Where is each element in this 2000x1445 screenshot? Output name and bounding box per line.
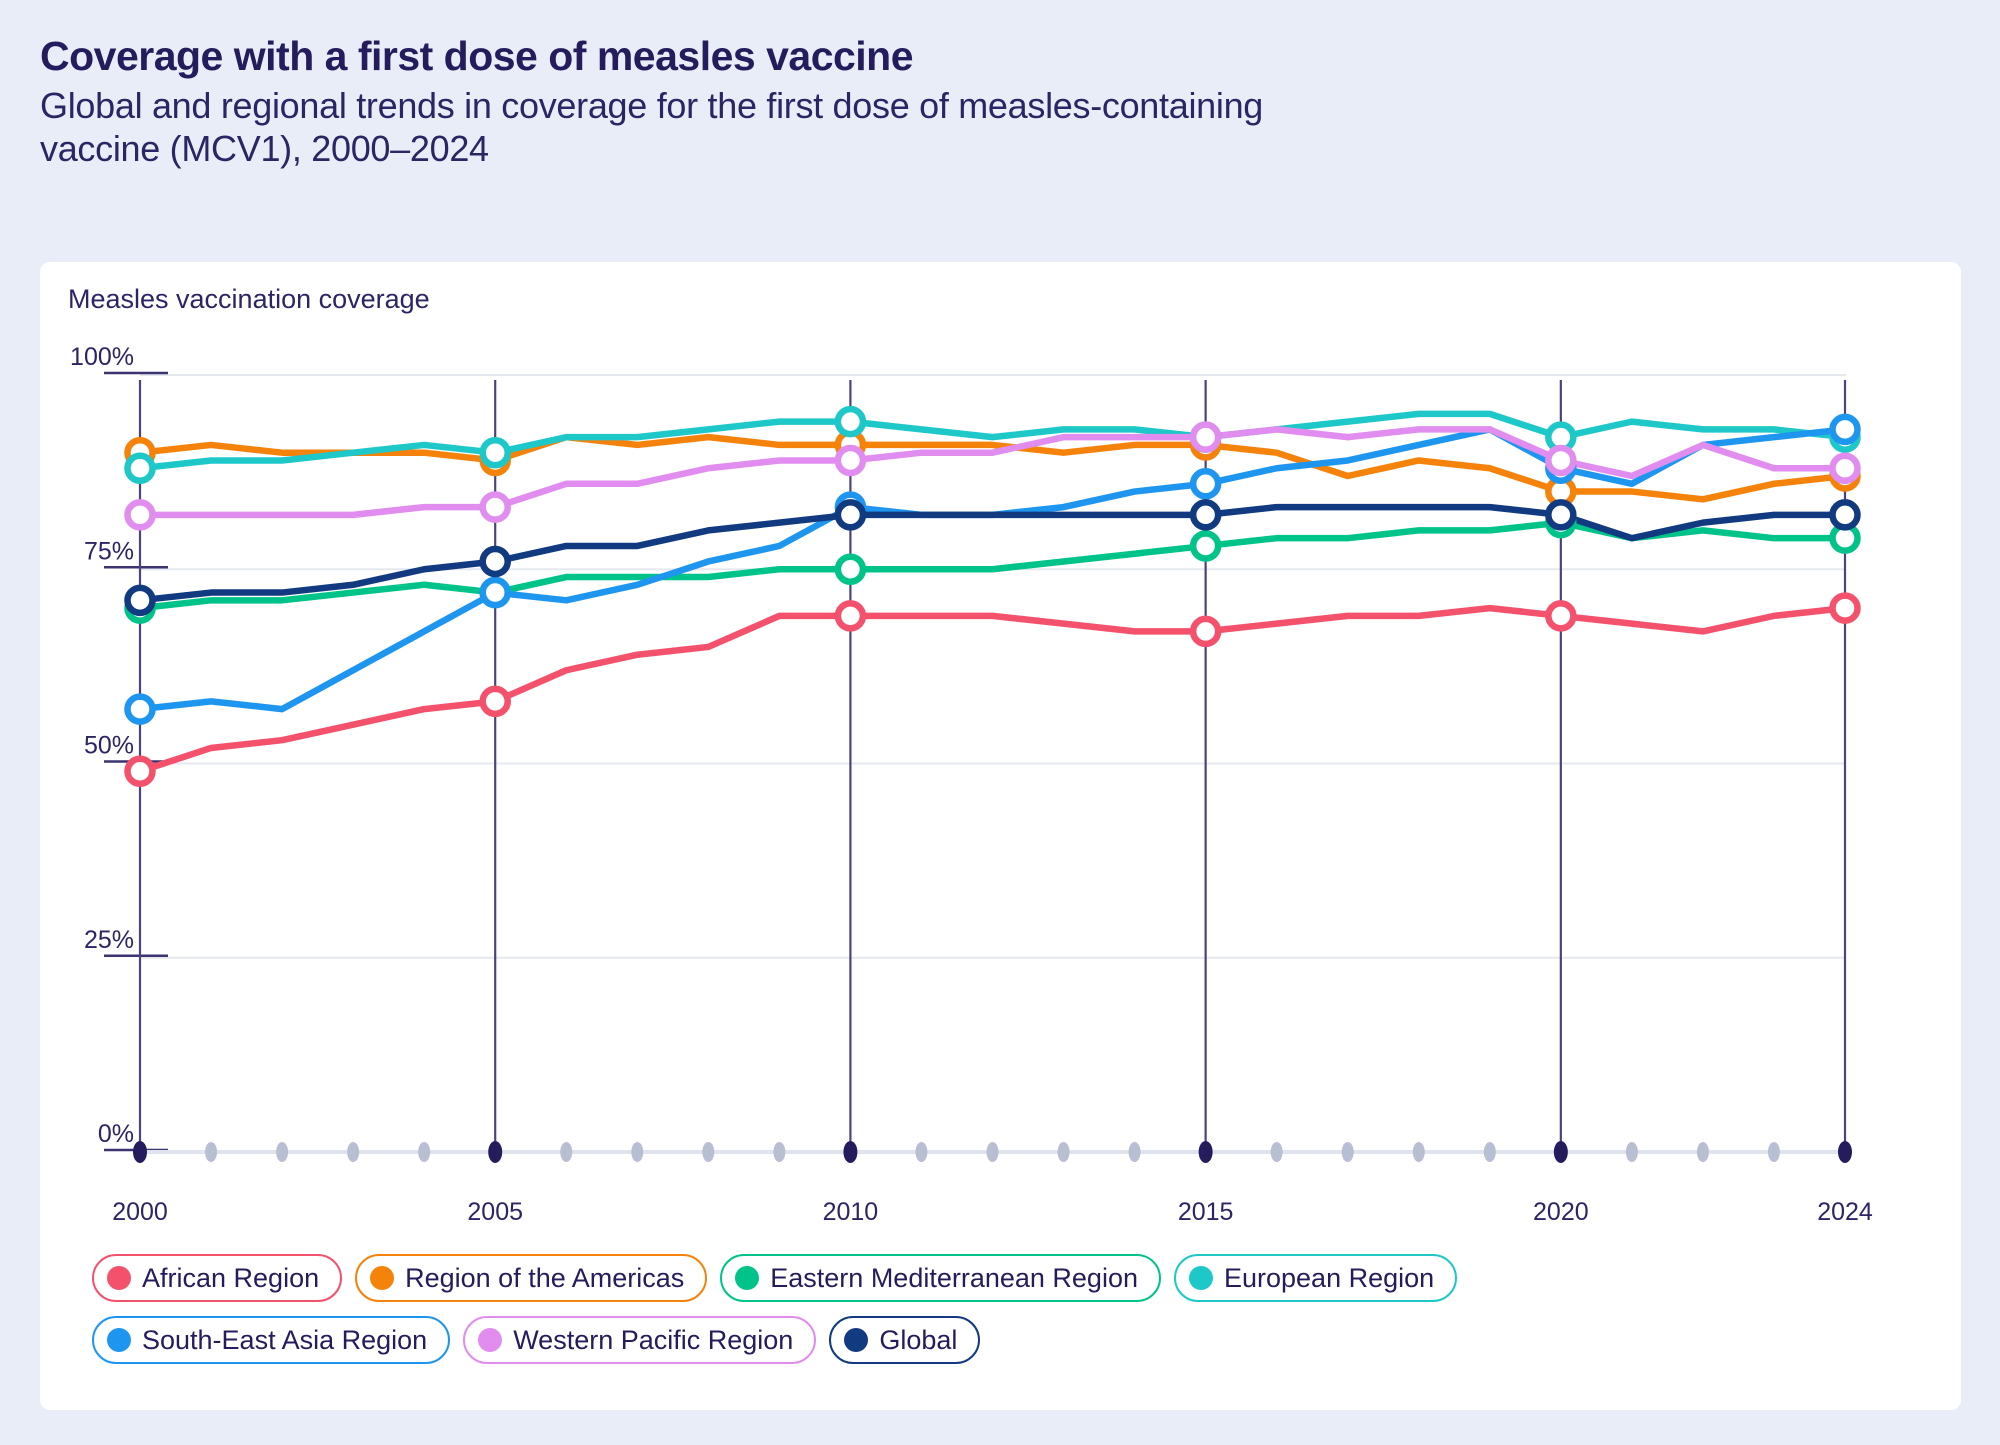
x-axis-dot-minor xyxy=(1058,1142,1070,1162)
y-tick-label: 100% xyxy=(70,343,134,371)
x-axis-dot-minor xyxy=(1342,1142,1354,1162)
legend-color-dot xyxy=(107,1266,131,1290)
legend-color-dot xyxy=(844,1328,868,1352)
legend-color-dot xyxy=(735,1266,759,1290)
series-marker[interactable] xyxy=(1193,471,1218,496)
x-axis-dot-minor xyxy=(1129,1142,1141,1162)
chart-legend: African RegionRegion of the AmericasEast… xyxy=(92,1254,1492,1364)
series-marker[interactable] xyxy=(483,580,508,605)
series-line xyxy=(140,414,1845,468)
series-marker[interactable] xyxy=(128,588,153,613)
series-marker[interactable] xyxy=(128,456,153,481)
legend-color-dot xyxy=(1189,1266,1213,1290)
legend-color-dot xyxy=(478,1328,502,1352)
legend-item-label: Western Pacific Region xyxy=(513,1325,793,1356)
legend-item[interactable]: Region of the Americas xyxy=(355,1254,707,1302)
series-marker[interactable] xyxy=(128,759,153,784)
series-marker[interactable] xyxy=(838,409,863,434)
series-marker[interactable] xyxy=(1833,502,1858,527)
y-tick-label: 50% xyxy=(84,732,134,760)
series-marker[interactable] xyxy=(1833,596,1858,621)
series-marker[interactable] xyxy=(1548,603,1573,628)
legend-item-label: South-East Asia Region xyxy=(142,1325,427,1356)
x-axis-dot-minor xyxy=(347,1142,359,1162)
series-marker[interactable] xyxy=(128,697,153,722)
series-marker[interactable] xyxy=(483,549,508,574)
x-axis-dot-minor xyxy=(1768,1142,1780,1162)
x-axis-dot-minor xyxy=(631,1142,643,1162)
x-axis-dot-minor xyxy=(1697,1142,1709,1162)
chart-card: Measles vaccination coverage 100%75%50%2… xyxy=(40,262,1961,1410)
series-marker[interactable] xyxy=(483,440,508,465)
header: Coverage with a first dose of measles va… xyxy=(0,0,2000,170)
legend-item[interactable]: South-East Asia Region xyxy=(92,1316,450,1364)
series-marker[interactable] xyxy=(1548,448,1573,473)
x-axis-dot-minor xyxy=(1271,1142,1283,1162)
x-axis-dot-minor xyxy=(205,1142,217,1162)
legend-item[interactable]: Western Pacific Region xyxy=(463,1316,816,1364)
x-tick-label: 2010 xyxy=(823,1198,879,1226)
x-axis-dot-minor xyxy=(987,1142,999,1162)
legend-item-label: African Region xyxy=(142,1263,319,1294)
x-axis-dot-major xyxy=(1554,1141,1568,1163)
x-axis-dot-major xyxy=(133,1141,147,1163)
legend-item-label: European Region xyxy=(1224,1263,1434,1294)
x-tick-label: 2000 xyxy=(112,1198,168,1226)
series-line xyxy=(140,523,1845,608)
legend-color-dot xyxy=(370,1266,394,1290)
x-axis-dot-minor xyxy=(915,1142,927,1162)
series-marker[interactable] xyxy=(838,603,863,628)
x-axis-dot-minor xyxy=(418,1142,430,1162)
page-root: Coverage with a first dose of measles va… xyxy=(0,0,2000,1445)
y-tick-label: 25% xyxy=(84,926,134,954)
legend-item[interactable]: European Region xyxy=(1174,1254,1457,1302)
series-marker[interactable] xyxy=(483,689,508,714)
x-axis-dot-major xyxy=(1199,1141,1213,1163)
series-marker[interactable] xyxy=(1193,533,1218,558)
series-marker[interactable] xyxy=(483,495,508,520)
legend-item[interactable]: Global xyxy=(829,1316,980,1364)
x-axis-dot-minor xyxy=(560,1142,572,1162)
x-tick-label: 2020 xyxy=(1533,1198,1589,1226)
page-subtitle: Global and regional trends in coverage f… xyxy=(40,84,1390,170)
x-tick-label: 2015 xyxy=(1178,1198,1234,1226)
x-axis-dot-minor xyxy=(1413,1142,1425,1162)
x-axis-dot-major xyxy=(1838,1141,1852,1163)
legend-item[interactable]: African Region xyxy=(92,1254,342,1302)
series-marker[interactable] xyxy=(1193,619,1218,644)
series-marker[interactable] xyxy=(1193,425,1218,450)
series-marker[interactable] xyxy=(1193,502,1218,527)
series-marker[interactable] xyxy=(838,502,863,527)
legend-color-dot xyxy=(107,1328,131,1352)
legend-item-label: Region of the Americas xyxy=(405,1263,684,1294)
series-marker[interactable] xyxy=(1833,417,1858,442)
legend-item[interactable]: Eastern Mediterranean Region xyxy=(720,1254,1161,1302)
series-line xyxy=(140,608,1845,771)
x-axis-dot-minor xyxy=(773,1142,785,1162)
y-tick-label: 0% xyxy=(98,1120,134,1148)
x-axis-dot-major xyxy=(843,1141,857,1163)
series-marker[interactable] xyxy=(838,557,863,582)
y-tick-label: 75% xyxy=(84,537,134,565)
legend-item-label: Eastern Mediterranean Region xyxy=(770,1263,1138,1294)
x-tick-label: 2024 xyxy=(1817,1198,1873,1226)
series-marker[interactable] xyxy=(838,448,863,473)
page-title: Coverage with a first dose of measles va… xyxy=(40,34,1960,80)
x-axis-dot-minor xyxy=(702,1142,714,1162)
x-axis-dot-major xyxy=(488,1141,502,1163)
x-axis-dot-minor xyxy=(1484,1142,1496,1162)
line-chart: 100%75%50%25%0%200020052010201520202024 xyxy=(40,262,1961,1410)
legend-item-label: Global xyxy=(879,1325,957,1356)
series-marker[interactable] xyxy=(1833,456,1858,481)
x-tick-label: 2005 xyxy=(467,1198,523,1226)
series-marker[interactable] xyxy=(128,502,153,527)
x-axis-dot-minor xyxy=(276,1142,288,1162)
x-axis-dot-minor xyxy=(1626,1142,1638,1162)
series-marker[interactable] xyxy=(1548,502,1573,527)
chart-plot-area: 100%75%50%25%0%200020052010201520202024 xyxy=(40,262,1961,1410)
